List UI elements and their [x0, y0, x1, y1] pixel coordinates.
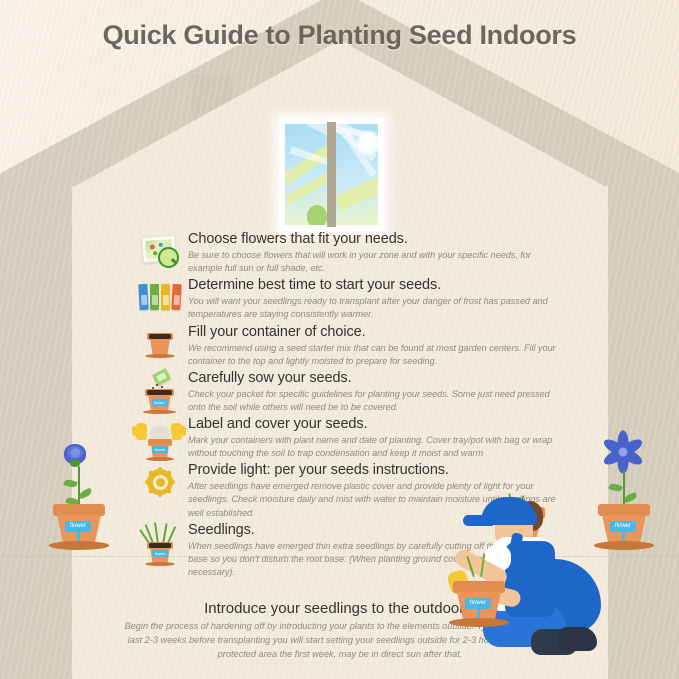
- step-item: Fill your container of choice. We recomm…: [136, 323, 556, 368]
- window-pane-left: [285, 124, 327, 225]
- seed-packets-icon: [136, 278, 182, 322]
- step-heading: Carefully sow your seeds.: [188, 369, 556, 387]
- kneeling-gardener-illustration: flower: [447, 497, 637, 679]
- step-body: Check your packet for specific guideline…: [188, 388, 556, 414]
- empty-pot-icon: [136, 325, 182, 369]
- step-body: We recommend using a seed starter mix th…: [188, 342, 556, 368]
- gloves-covering-pot-icon: flower: [136, 417, 182, 461]
- pot-label: flower: [152, 550, 168, 557]
- step-body: Be sure to choose flowers that will work…: [188, 249, 556, 275]
- step-heading: Determine best time to start your seeds.: [188, 276, 556, 294]
- seed-catalog-icon: [136, 232, 182, 276]
- window-pane-right: [336, 124, 378, 225]
- step-heading: Provide light: per your seeds instructio…: [188, 461, 556, 479]
- step-body: You will want your seedlings ready to tr…: [188, 295, 556, 321]
- pot-label: flower: [152, 399, 168, 406]
- sun-icon: [356, 130, 378, 156]
- sunlit-window-icon: [279, 118, 384, 231]
- seedling-pot-icon: flower: [136, 523, 182, 567]
- page-title: Quick Guide to Planting Seed Indoors: [0, 20, 679, 51]
- step-heading: Choose flowers that fit your needs.: [188, 230, 556, 248]
- step-item: Choose flowers that fit your needs. Be s…: [136, 230, 556, 275]
- lily-bloom: [600, 432, 646, 472]
- step-item: flower Carefully sow your seeds. Check y…: [136, 369, 556, 414]
- step-item: flower Label and cover your seeds. Mark …: [136, 415, 556, 460]
- pot-label: flower: [152, 446, 168, 453]
- step-heading: Fill your container of choice.: [188, 323, 556, 341]
- step-item: Determine best time to start your seeds.…: [136, 276, 556, 321]
- window-mullion: [327, 122, 336, 227]
- step-body: Mark your containers with plant name and…: [188, 434, 556, 460]
- sowing-seeds-icon: flower: [136, 371, 182, 415]
- flower-pot: flower: [53, 504, 105, 550]
- sun-light-icon: [136, 463, 182, 507]
- infographic-canvas: Quick Guide to Planting Seed Indoors: [0, 0, 679, 679]
- gardener-flower-pot: flower: [453, 581, 505, 627]
- step-heading: Label and cover your seeds.: [188, 415, 556, 433]
- potted-blue-rose: flower: [42, 440, 122, 550]
